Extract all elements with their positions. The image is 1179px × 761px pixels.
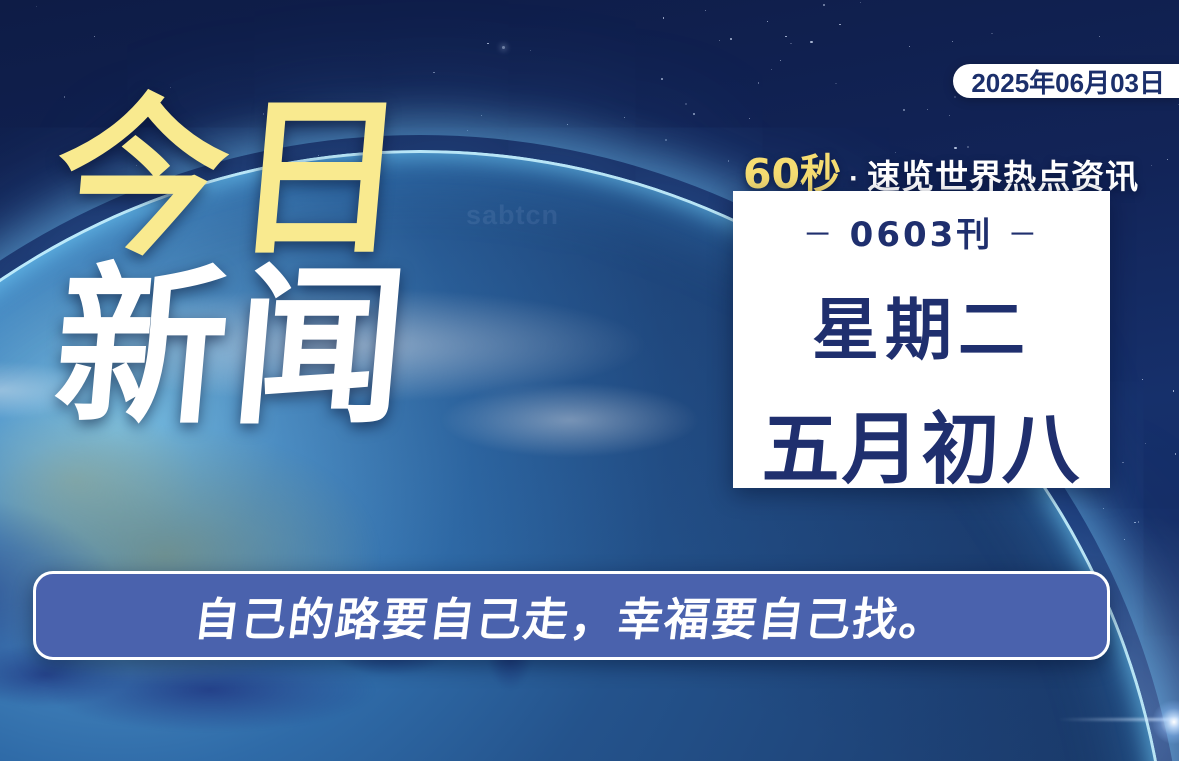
- news-poster: sabtcn 今日 新闻 2025年06月03日 60秒 · 速览世界热点资讯 …: [0, 0, 1179, 761]
- title-line-today: 今日: [49, 96, 419, 261]
- weekday-label: 星期二: [812, 276, 1031, 373]
- quote-text: 自己的路要自己走，幸福要自己找。: [191, 583, 951, 648]
- issue-number: 0603刊: [850, 207, 994, 256]
- issue-row: － 0603刊 －: [803, 207, 1041, 256]
- page-title: 今日 新闻: [56, 96, 412, 430]
- issue-card: － 0603刊 － 星期二 五月初八: [733, 191, 1110, 488]
- issue-dash-right: －: [1007, 210, 1040, 254]
- title-line-news: 新闻: [49, 265, 419, 430]
- quote-banner: 自己的路要自己走，幸福要自己找。: [33, 571, 1110, 660]
- issue-dash-left: －: [803, 210, 836, 254]
- lunar-date-label: 五月初八: [761, 387, 1081, 499]
- date-badge: 2025年06月03日: [953, 64, 1179, 98]
- watermark-text: sabtcn: [466, 200, 559, 231]
- date-badge-label: 2025年06月03日: [971, 63, 1165, 100]
